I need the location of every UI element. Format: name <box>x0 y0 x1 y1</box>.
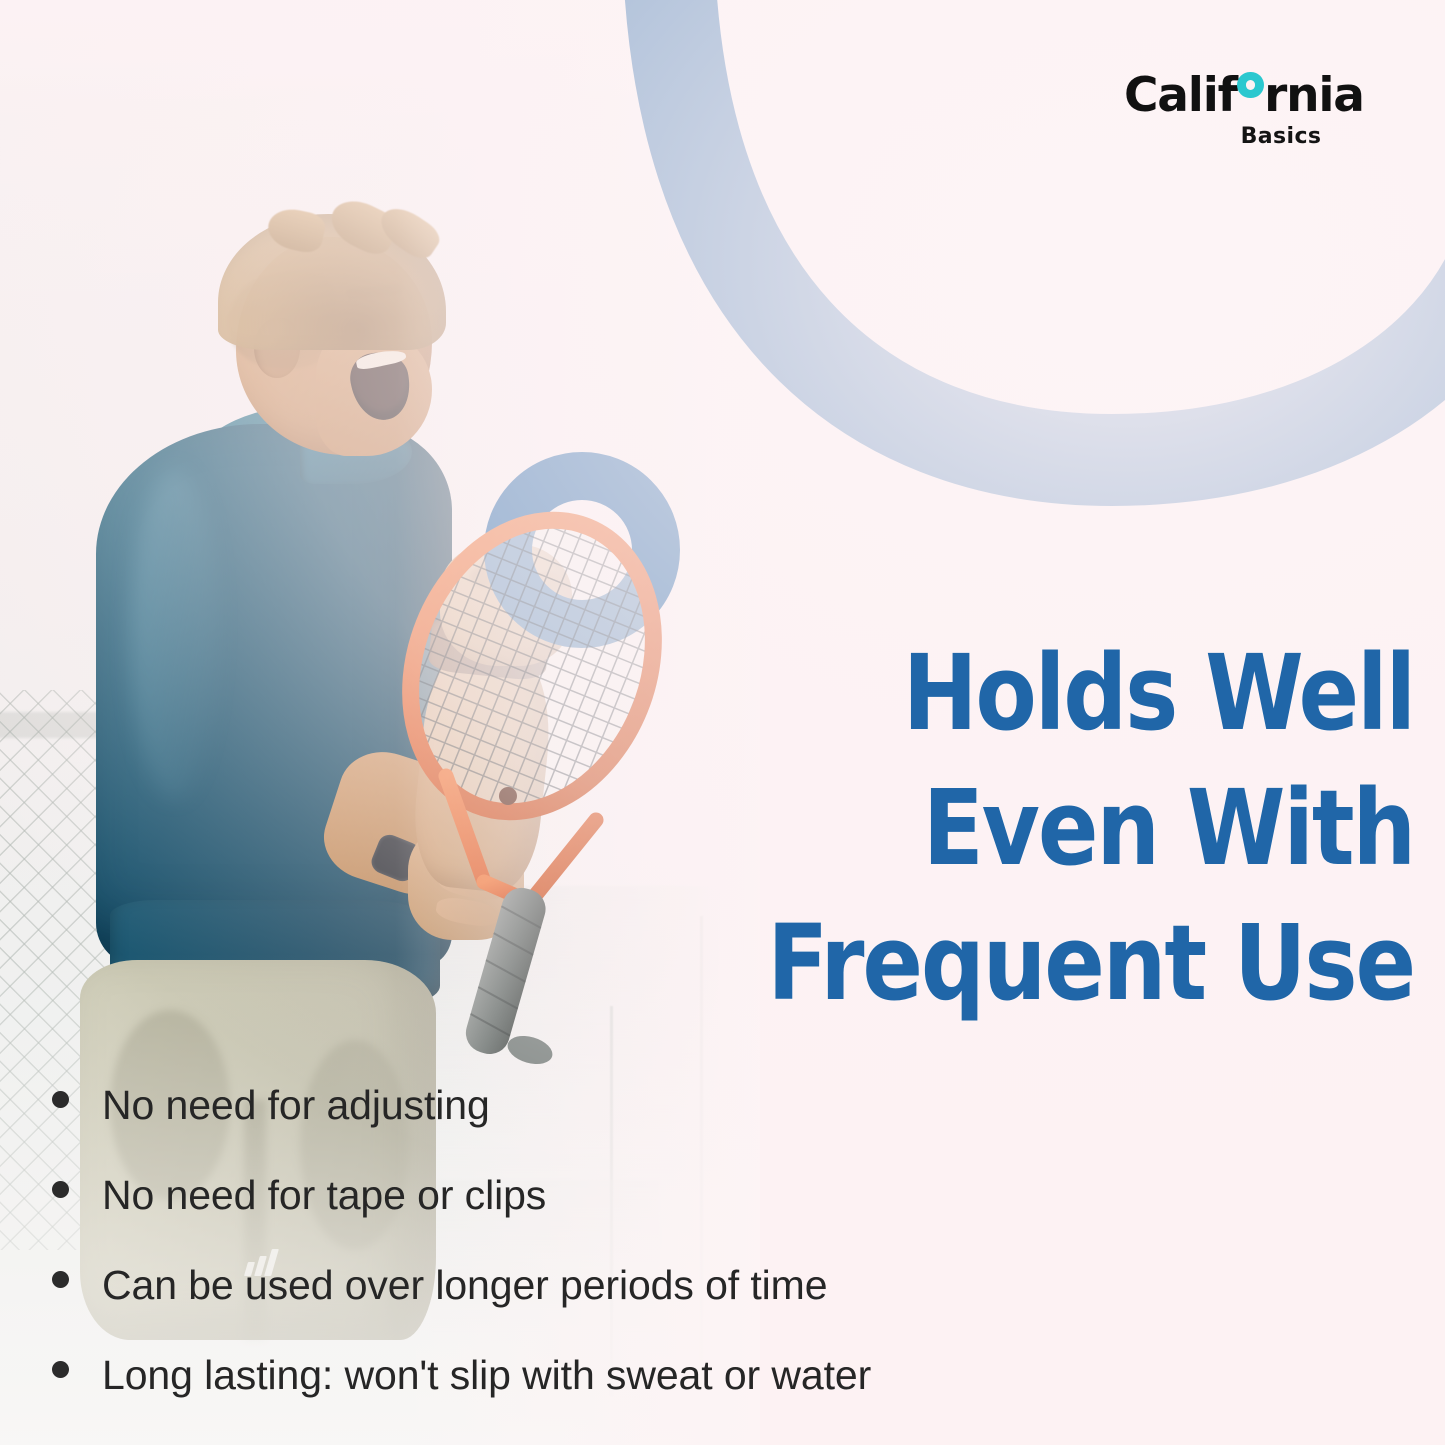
list-item-label: Can be used over longer periods of time <box>102 1262 827 1309</box>
list-item: Can be used over longer periods of time <box>52 1262 1392 1352</box>
brand-logo: California Basics <box>1124 72 1352 148</box>
string-dampener <box>499 787 517 805</box>
brand-name-part1: Calif <box>1124 68 1237 123</box>
headline-line-1: Holds Well <box>711 626 1414 761</box>
brand-subtitle: Basics <box>1124 126 1352 148</box>
headline-line-3: Frequent Use <box>711 896 1414 1031</box>
brand-cyan-o-icon: o <box>1237 72 1263 98</box>
list-item: No need for tape or clips <box>52 1172 1392 1262</box>
bullet-dot-icon <box>52 1091 69 1108</box>
headline-line-2: Even With <box>711 761 1414 896</box>
bullet-dot-icon <box>52 1271 69 1288</box>
bullet-dot-icon <box>52 1361 69 1378</box>
list-item: No need for adjusting <box>52 1082 1392 1172</box>
page-title: Holds Well Even With Frequent Use <box>596 626 1414 1032</box>
list-item: Long lasting: won't slip with sweat or w… <box>52 1352 1392 1442</box>
brand-name-part2: rnia <box>1264 68 1364 123</box>
brand-name: California <box>1124 72 1352 119</box>
marketing-banner: California Basics Holds Well Even With F… <box>0 0 1445 1445</box>
feature-bullet-list: No need for adjusting No need for tape o… <box>52 1082 1392 1442</box>
list-item-label: No need for tape or clips <box>102 1172 546 1219</box>
bullet-dot-icon <box>52 1181 69 1198</box>
grip-butt-cap <box>504 1031 555 1069</box>
list-item-label: No need for adjusting <box>102 1082 490 1129</box>
list-item-label: Long lasting: won't slip with sweat or w… <box>102 1352 871 1399</box>
